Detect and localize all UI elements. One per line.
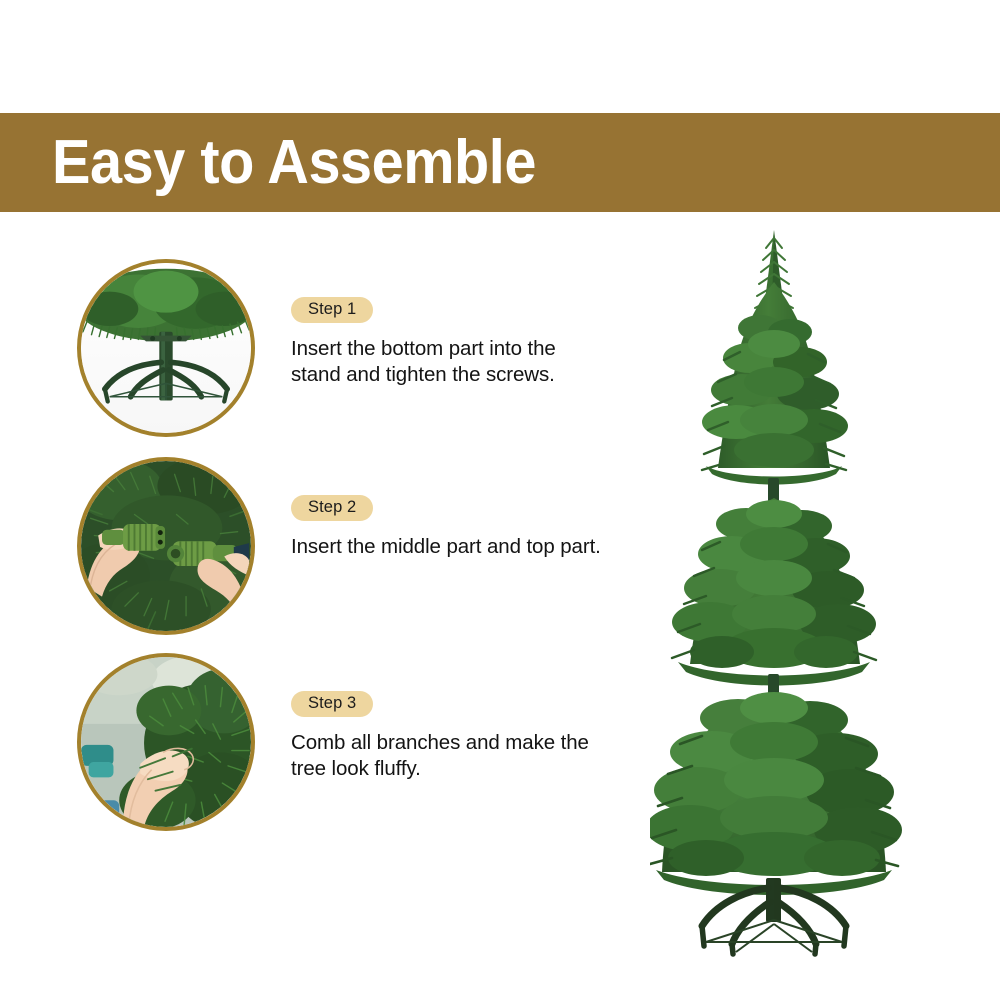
step-2-badge: Step 2 — [291, 495, 373, 521]
step-2-photo-circle — [77, 457, 255, 635]
fluffing-branches-photo — [81, 657, 251, 827]
step-item-3: Step 3 Comb all branches and make the tr… — [0, 653, 650, 848]
step-2-description: Insert the middle part and top part. — [291, 534, 609, 560]
connector-plugs-photo — [81, 461, 251, 631]
step-3-photo-circle — [77, 653, 255, 831]
step-2-text: Step 2 Insert the middle part and top pa… — [291, 457, 631, 560]
step-3-badge: Step 3 — [291, 691, 373, 717]
step-1-badge: Step 1 — [291, 297, 373, 323]
tree-base-stand-photo — [81, 263, 251, 433]
step-1-text: Step 1 Insert the bottom part into the s… — [291, 259, 631, 388]
assembled-christmas-tree — [650, 212, 1000, 1000]
step-item-1: Step 1 Insert the bottom part into the s… — [0, 259, 650, 454]
step-3-text: Step 3 Comb all branches and make the tr… — [291, 653, 631, 782]
header-banner: Easy to Assemble — [0, 113, 1000, 212]
step-1-description: Insert the bottom part into the stand an… — [291, 336, 609, 388]
page-title: Easy to Assemble — [52, 131, 536, 195]
step-3-description: Comb all branches and make the tree look… — [291, 730, 609, 782]
assembly-steps-list: Step 1 Insert the bottom part into the s… — [0, 212, 650, 1000]
step-item-2: Step 2 Insert the middle part and top pa… — [0, 457, 650, 652]
step-1-photo-circle — [77, 259, 255, 437]
